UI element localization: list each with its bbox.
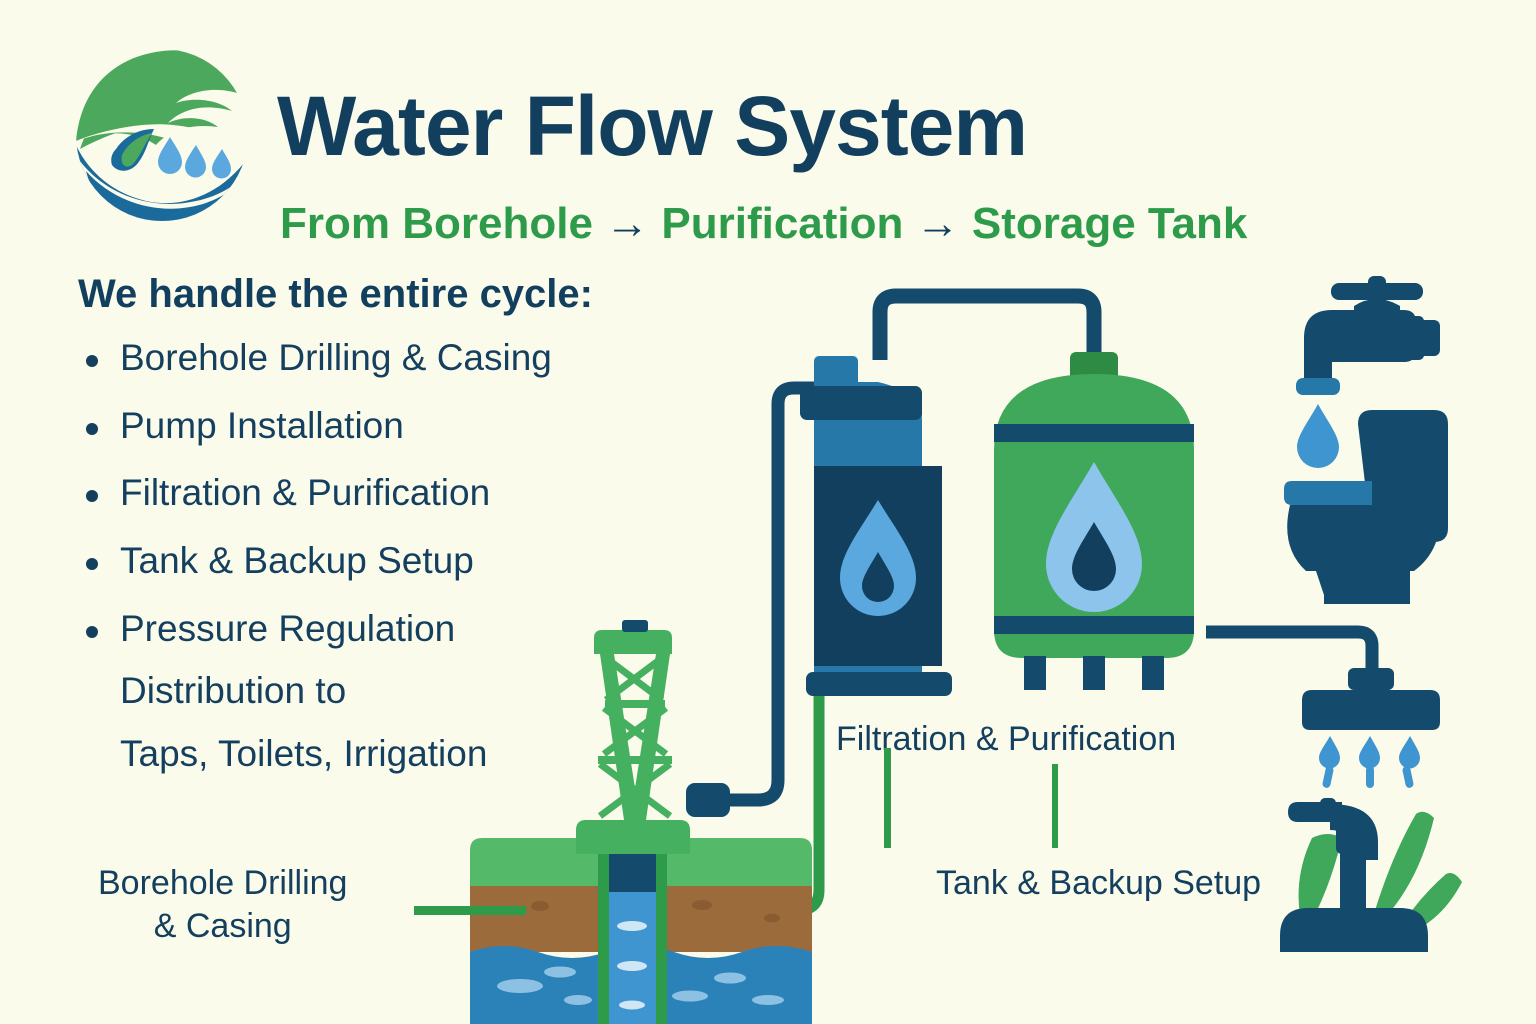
- tank-leg: [1142, 656, 1164, 690]
- tank-neck: [1070, 352, 1118, 392]
- list-item: Pump Installation: [78, 406, 698, 447]
- tank-leg: [1024, 656, 1046, 690]
- ground-cross-section: [470, 838, 812, 1024]
- list-item: Borehole Drilling & Casing: [78, 338, 698, 379]
- connector-line-borehole: [414, 906, 526, 915]
- list-item-label-line2: Distribution to: [120, 671, 698, 712]
- subtitle-flow: From Borehole → Purification → Storage T…: [280, 202, 1247, 246]
- list-item-label-line3: Taps, Toilets, Irrigation: [120, 734, 698, 775]
- filter-collar-right: [852, 386, 920, 420]
- filtration-cylinder-icon: [806, 356, 952, 696]
- filter-base: [806, 672, 952, 696]
- list-item: Pressure Regulation Distribution to Taps…: [78, 609, 698, 775]
- casing-head: [606, 840, 658, 892]
- navy-pipe-filter-to-tank: [880, 296, 1094, 360]
- connector-line-tank: [884, 748, 891, 848]
- list-item: Filtration & Purification: [78, 473, 698, 514]
- list-item: Tank & Backup Setup: [78, 541, 698, 582]
- arrow-icon-2: →: [916, 199, 960, 248]
- infographic-canvas: Water Flow System From Borehole → Purifi…: [0, 0, 1536, 1024]
- navy-pipe-well-to-filter: [712, 388, 816, 800]
- bullet-dot-icon: [86, 626, 98, 638]
- borehole-water-column: [606, 886, 658, 1024]
- list-item-label: Borehole Drilling & Casing: [120, 337, 552, 378]
- bullet-dot-icon: [86, 490, 98, 502]
- tank-band-top: [994, 424, 1194, 442]
- subtitle-step-1: From Borehole: [280, 199, 593, 248]
- casing-wall-right: [656, 840, 667, 1024]
- aquifer-water: [470, 946, 812, 1024]
- tap-faucet-icon: [1296, 276, 1440, 468]
- label-borehole-drilling: Borehole Drilling & Casing: [98, 862, 347, 947]
- filter-dark-band: [814, 466, 942, 666]
- water-flow-system-logo: [72, 45, 252, 225]
- bullet-dot-icon: [86, 558, 98, 570]
- list-item-label: Pump Installation: [120, 405, 404, 446]
- navy-pipe-tank-to-shower: [1206, 632, 1372, 690]
- label-borehole-line1: Borehole Drilling: [98, 862, 347, 905]
- shower-head-icon: [1302, 668, 1440, 789]
- subtitle-step-2: Purification: [661, 199, 903, 248]
- subtitle-step-3: Storage Tank: [972, 199, 1247, 248]
- toilet-icon: [1284, 410, 1448, 604]
- services-list: Borehole Drilling & Casing Pump Installa…: [78, 338, 698, 775]
- list-item-label: Tank & Backup Setup: [120, 540, 474, 581]
- list-item-label: Pressure Regulation: [120, 608, 455, 649]
- tank-band-bottom: [994, 616, 1194, 634]
- label-tank-backup-setup: Tank & Backup Setup: [936, 862, 1261, 905]
- page-title: Water Flow System: [277, 84, 1027, 168]
- services-heading: We handle the entire cycle:: [78, 272, 698, 316]
- bullet-dot-icon: [86, 355, 98, 367]
- tank-leg: [1083, 656, 1105, 690]
- connector-line-filtration: [1052, 764, 1058, 848]
- header: Water Flow System From Borehole → Purifi…: [72, 40, 1392, 230]
- storage-tank-icon: [994, 352, 1194, 690]
- label-borehole-line2: & Casing: [98, 905, 347, 948]
- bullet-dot-icon: [86, 423, 98, 435]
- services-list-block: We handle the entire cycle: Borehole Dri…: [78, 272, 698, 802]
- filter-collar: [800, 386, 922, 420]
- filter-neck: [814, 356, 858, 404]
- arrow-icon-1: →: [605, 199, 649, 248]
- list-item-label: Filtration & Purification: [120, 472, 490, 513]
- casing-wall-left: [598, 840, 609, 1024]
- irrigation-sprinkler-icon: [1280, 798, 1462, 952]
- tap-water-droplet: [1297, 404, 1339, 468]
